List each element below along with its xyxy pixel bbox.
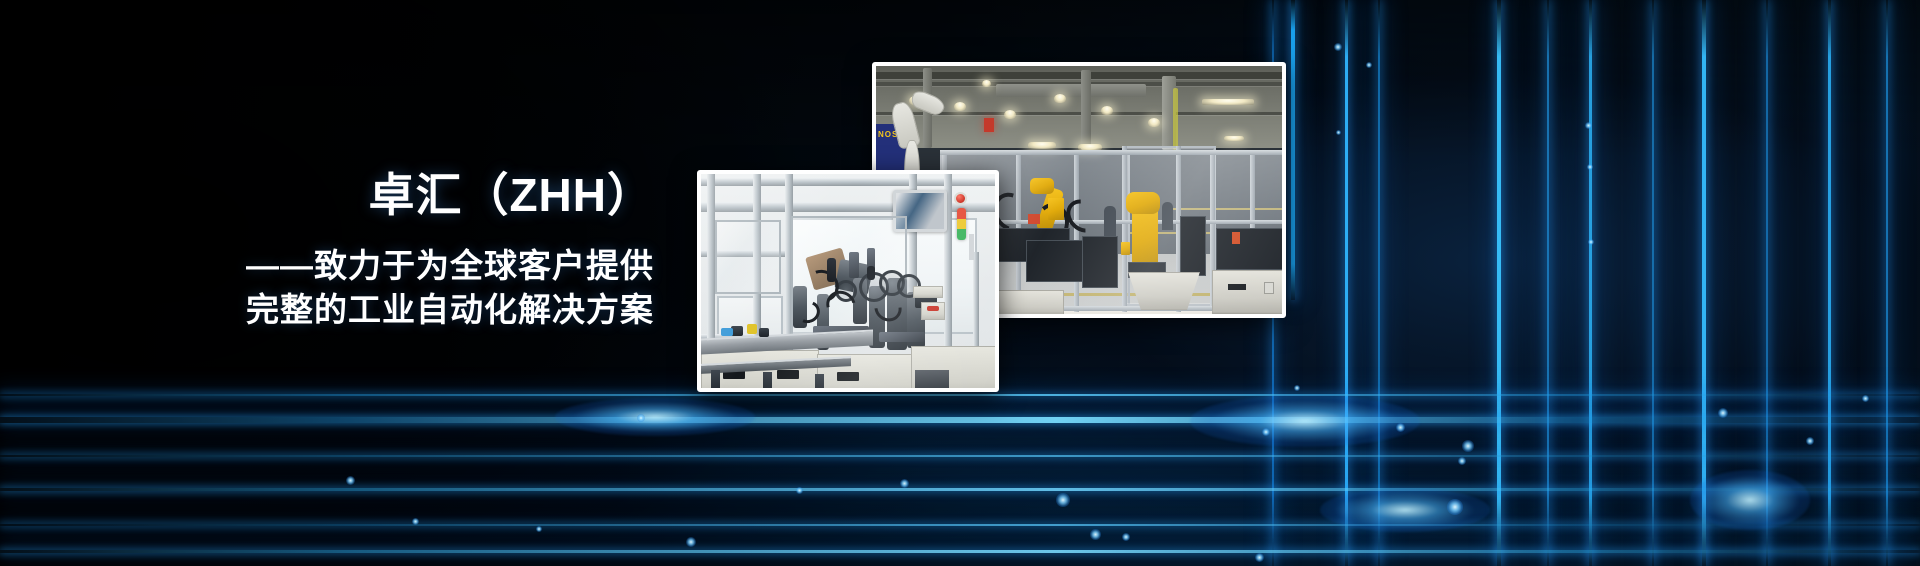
tagline-line-2: 完整的工业自动化解决方案 <box>0 288 654 332</box>
sensor-unit <box>827 258 836 282</box>
worker-silhouette <box>1104 206 1116 236</box>
worker-silhouette <box>1162 202 1173 230</box>
ceiling-beam <box>876 72 1282 79</box>
industrial-robot-head <box>1126 192 1160 214</box>
workpiece-blue <box>721 328 733 336</box>
ceiling-lamp <box>1004 110 1016 119</box>
cell-frame <box>1122 146 1127 312</box>
cell-frame <box>940 150 1282 155</box>
machine-internals <box>1082 236 1118 288</box>
indicator-red <box>984 118 994 132</box>
support-bracket <box>849 252 859 278</box>
enclosure-door-window <box>715 220 781 294</box>
warning-tag <box>1048 198 1064 220</box>
sensor-unit <box>867 266 875 280</box>
ceiling-tube-light <box>1224 136 1244 141</box>
photo-assembly-machine-closeup[interactable] <box>697 170 999 392</box>
conveyor-leg <box>815 374 824 388</box>
machine-module <box>921 302 945 320</box>
ceiling-cable <box>1173 88 1178 150</box>
support-bracket <box>879 332 925 342</box>
emergency-stop-button[interactable] <box>954 192 967 205</box>
ceiling-duct <box>996 84 1146 97</box>
cabinet-handle <box>1228 284 1246 290</box>
ceiling-lamp <box>982 80 991 87</box>
indicator-red <box>927 306 939 311</box>
indicator-red <box>1232 232 1240 244</box>
ceiling-lamp <box>954 102 966 111</box>
page-title: 卓汇（ZHH） <box>0 168 672 222</box>
floor-step <box>915 370 949 388</box>
banner-text-block: 卓汇（ZHH） ——致力于为全球客户提供 完整的工业自动化解决方案 <box>0 168 672 331</box>
ceiling-lamp <box>1101 106 1113 115</box>
panel-strip <box>969 234 974 260</box>
machine-internals <box>1216 228 1282 270</box>
hero-banner: NOS <box>0 0 1920 566</box>
workpiece-yellow <box>747 324 757 334</box>
conveyor-leg <box>763 372 772 388</box>
machine-internals <box>1180 216 1206 276</box>
ceiling-tube-light <box>1202 99 1254 105</box>
industrial-robot-joint <box>1030 178 1054 194</box>
cabinet-handle <box>837 372 859 381</box>
machine-internals <box>1026 240 1088 282</box>
workpiece <box>759 328 769 337</box>
ceiling-lamp <box>1054 94 1066 103</box>
cabinet-latch <box>1264 282 1274 294</box>
cabinet-handle <box>777 370 799 379</box>
machine-module <box>913 286 943 298</box>
ceiling-pillar <box>1081 70 1091 150</box>
ceiling-lamp <box>1148 118 1160 127</box>
warning-tag <box>1121 242 1130 255</box>
photo-scene <box>701 174 995 388</box>
stack-light-tower <box>957 208 966 240</box>
ceiling-tube-light <box>1028 142 1056 149</box>
tagline-line-1: ——致力于为全球客户提供 <box>0 244 654 288</box>
indicator-red <box>1028 214 1040 224</box>
conveyor-leg <box>711 370 720 388</box>
tagline-group: ——致力于为全球客户提供 完整的工业自动化解决方案 <box>0 244 672 331</box>
